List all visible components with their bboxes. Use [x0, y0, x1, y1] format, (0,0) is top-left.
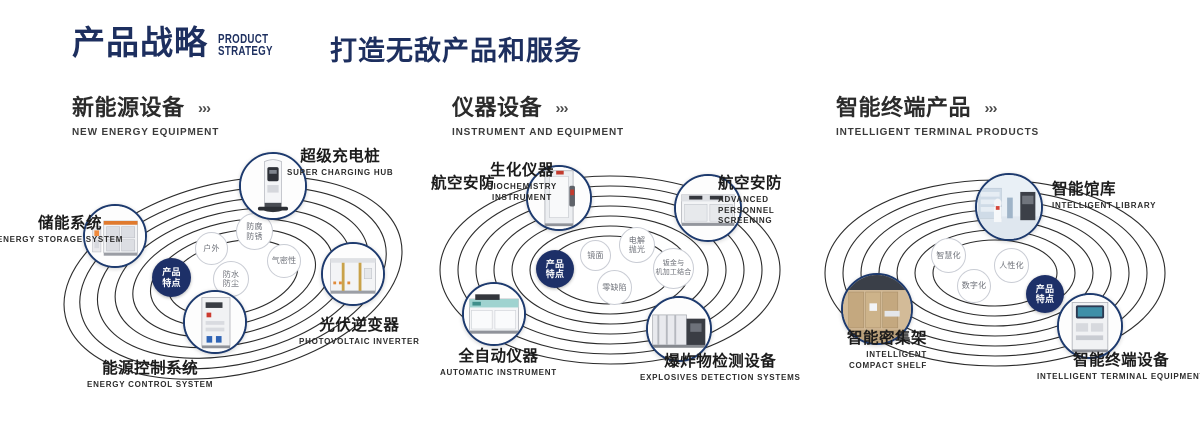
product-label-cn: 智能馆库	[1052, 181, 1156, 199]
product-label-cn: 生化仪器	[462, 162, 582, 180]
product-label-biochemistry-instrument: 生化仪器 BIOCHEMISTRY INSTRUMENT	[462, 162, 582, 203]
section-title-cn: 新能源设备	[72, 96, 185, 120]
chevron-right-icon: ›››	[198, 100, 210, 117]
product-label-intelligent-compact-shelf: 智能密集架 INTELLIGENT COMPACT SHELF	[822, 330, 927, 371]
chevron-right-icon: ›››	[555, 100, 567, 117]
product-label-cn: 储能系统	[0, 215, 102, 233]
product-label-cn: 超级充电桩	[287, 148, 393, 166]
feature-bubble-line1: 零缺陷	[602, 283, 627, 292]
page-title-en-line2: STRATEGY	[218, 44, 273, 58]
product-label-en: AUTOMATIC INSTRUMENT	[440, 368, 557, 379]
product-label-photovoltaic-inverter: 光伏逆变器 PHOTOVOLTAIC INVERTER	[299, 317, 420, 348]
product-label-en: ENERGY CONTROL SYSTEM	[87, 380, 213, 391]
product-label-en: EXPLOSIVES DETECTION SYSTEMS	[640, 373, 801, 384]
page-header: 产品战略 PRODUCT STRATEGY	[72, 26, 288, 59]
section-title-en: NEW ENERGY EQUIPMENT	[72, 126, 219, 138]
section-title-cn: 仪器设备	[452, 96, 542, 120]
product-label-cn: 能源控制系统	[87, 360, 213, 378]
feature-bubble: 钣金与 机加工结合	[653, 248, 694, 289]
core-bubble-line2: 特点	[546, 269, 564, 279]
product-label-intelligent-library: 智能馆库 INTELLIGENT LIBRARY	[1052, 181, 1156, 212]
feature-bubble-line1: 防腐	[246, 222, 262, 231]
product-label-cn: 爆炸物检测设备	[640, 353, 801, 371]
product-label-en: ADVANCED PERSONNEL SCREENING	[718, 195, 826, 227]
feature-bubble-line1: 智慧化	[936, 251, 961, 260]
product-label-energy-storage-system: 储能系统 ENERGY STORAGE SYSTEM	[0, 215, 102, 246]
product-label-en: PHOTOVOLTAIC INVERTER	[299, 337, 420, 348]
feature-bubble-line1: 防水	[223, 270, 239, 279]
product-label-energy-control-system: 能源控制系统 ENERGY CONTROL SYSTEM	[87, 360, 213, 391]
control-cabinet-icon	[185, 292, 245, 352]
feature-bubble-line2: 防尘	[223, 279, 239, 288]
intelligent-library-icon	[977, 175, 1041, 239]
terminal-kiosk-icon	[1059, 295, 1121, 357]
cluster-new-energy: 产品 特点 户外 防腐 防锈 防水 防尘 气密性	[55, 150, 405, 390]
feature-bubble: 数字化	[957, 269, 991, 303]
product-label-en: INTELLIGENT LIBRARY	[1052, 201, 1156, 212]
core-bubble-line1: 产品	[1036, 284, 1054, 294]
product-node-automatic-instrument[interactable]	[462, 282, 526, 346]
product-node-energy-control-system[interactable]	[183, 290, 247, 354]
product-label-cn: 光伏逆变器	[299, 317, 420, 335]
feature-bubble-line1: 户外	[203, 244, 219, 253]
photovoltaic-inverter-icon	[323, 244, 383, 304]
page-title-en: PRODUCT STRATEGY	[218, 33, 273, 57]
product-label-intelligent-terminal-equipment: 智能终端设备 INTELLIGENT TERMINAL EQUIPMENT	[1037, 352, 1200, 383]
chevron-right-icon: ›››	[984, 100, 996, 117]
product-label-advanced-personnel-screening: 航空安防 ADVANCED PERSONNEL SCREENING	[718, 175, 826, 227]
section-title-intelligent-terminal: 智能终端产品 ››› INTELLIGENT TERMINAL PRODUCTS	[836, 96, 1050, 138]
page-title-cn: 产品战略	[72, 26, 208, 59]
product-label-super-charging-hub: 超级充电桩 SUPER CHARGING HUB	[287, 148, 393, 179]
feature-bubble: 人性化	[994, 248, 1029, 283]
core-feature-bubble: 产品 特点	[536, 250, 574, 288]
feature-bubble: 智慧化	[931, 238, 966, 273]
feature-bubble-line1: 气密性	[272, 256, 297, 265]
product-label-en: ENERGY STORAGE SYSTEM	[0, 235, 102, 246]
section-title-new-energy: 新能源设备 ››› NEW ENERGY EQUIPMENT	[72, 96, 227, 138]
product-label-explosives-detection-systems: 爆炸物检测设备 EXPLOSIVES DETECTION SYSTEMS	[640, 353, 801, 384]
feature-bubble: 户外	[195, 232, 228, 265]
product-label-cn: 智能终端设备	[1037, 352, 1200, 370]
core-bubble-line2: 特点	[162, 278, 180, 288]
section-title-en: INSTRUMENT AND EQUIPMENT	[452, 126, 624, 138]
product-label-en: INTELLIGENT COMPACT SHELF	[822, 350, 927, 372]
product-label-en: BIOCHEMISTRY INSTRUMENT	[483, 182, 561, 204]
product-node-photovoltaic-inverter[interactable]	[321, 242, 385, 306]
core-bubble-line1: 产品	[162, 267, 180, 277]
feature-bubble-line2: 机加工结合	[656, 269, 692, 276]
product-label-automatic-instrument: 全自动仪器 AUTOMATIC INSTRUMENT	[440, 348, 557, 379]
feature-bubble: 气密性	[267, 244, 301, 278]
explosives-detector-icon	[648, 298, 710, 360]
product-label-cn: 全自动仪器	[440, 348, 557, 366]
core-bubble-line2: 特点	[1036, 294, 1054, 304]
product-label-cn: 智能密集架	[822, 330, 927, 348]
section-title-instrument: 仪器设备 ››› INSTRUMENT AND EQUIPMENT	[452, 96, 633, 138]
product-node-intelligent-library[interactable]	[975, 173, 1043, 241]
product-label-en: SUPER CHARGING HUB	[287, 168, 393, 179]
product-node-intelligent-terminal-equipment[interactable]	[1057, 293, 1123, 359]
feature-bubble-line2: 防锈	[246, 232, 262, 241]
section-title-en: INTELLIGENT TERMINAL PRODUCTS	[836, 126, 1039, 138]
feature-bubble: 零缺陷	[597, 270, 632, 305]
feature-bubble-line1: 钣金与	[663, 260, 685, 267]
feature-bubble-line2: 抛光	[629, 245, 645, 254]
feature-bubble-line1: 数字化	[962, 281, 987, 290]
product-label-cn: 航空安防	[718, 175, 826, 193]
page-subtitle: 打造无敌产品和服务	[330, 38, 582, 65]
feature-bubble-line1: 电解	[629, 236, 645, 245]
feature-bubble-line1: 镜面	[587, 251, 603, 260]
feature-bubble-line1: 人性化	[999, 261, 1024, 270]
core-bubble-line1: 产品	[546, 259, 564, 269]
feature-bubble: 镜面	[580, 240, 611, 271]
automatic-instrument-icon	[464, 284, 524, 344]
section-title-cn: 智能终端产品	[836, 96, 971, 120]
feature-bubble: 电解 抛光	[619, 227, 655, 263]
product-label-en: INTELLIGENT TERMINAL EQUIPMENT	[1037, 372, 1200, 383]
